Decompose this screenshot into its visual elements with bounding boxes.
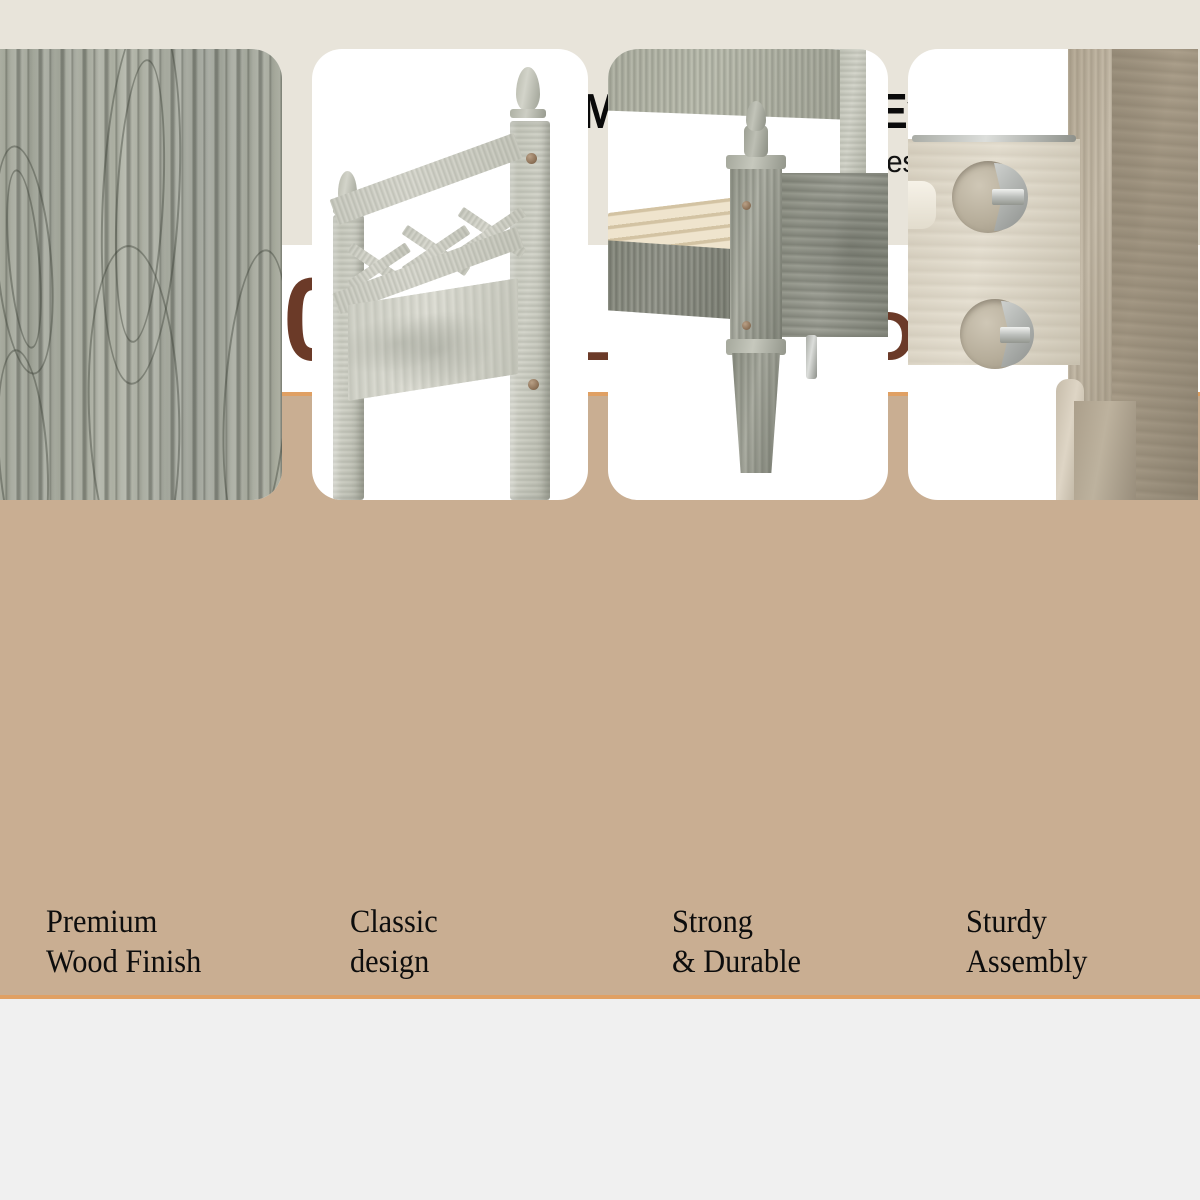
caption-line-2: design bbox=[350, 942, 438, 982]
panel-caption-sturdy-assembly: Sturdy Assembly bbox=[966, 902, 1087, 983]
panel-caption-premium-wood-finish: Premium Wood Finish bbox=[46, 902, 201, 983]
wood-grain-image bbox=[0, 49, 282, 500]
caption-line-1: Strong bbox=[672, 902, 801, 942]
caption-line-2: Assembly bbox=[966, 942, 1087, 982]
bed-post-image bbox=[608, 49, 888, 500]
cam-lock-image bbox=[908, 49, 1198, 500]
caption-line-1: Sturdy bbox=[966, 902, 1087, 942]
caption-line-2: Wood Finish bbox=[46, 942, 201, 982]
product-infographic: Meticulous In Every Detail Crafted to La… bbox=[0, 0, 1200, 1200]
caption-line-1: Classic bbox=[350, 902, 438, 942]
gallery-panel-premium-wood-finish[interactable] bbox=[0, 49, 282, 500]
panel-caption-strong-durable: Strong & Durable bbox=[672, 902, 801, 983]
caption-line-2: & Durable bbox=[672, 942, 801, 982]
gallery-panel-sturdy-assembly[interactable] bbox=[908, 49, 1198, 500]
headboard-image bbox=[312, 49, 588, 500]
footer-band bbox=[0, 999, 1200, 1200]
caption-line-1: Premium bbox=[46, 902, 201, 942]
panel-caption-classic-design: Classic design bbox=[350, 902, 438, 983]
gallery-panel-classic-design[interactable] bbox=[312, 49, 588, 500]
gallery-panel-strong-durable[interactable] bbox=[608, 49, 888, 500]
